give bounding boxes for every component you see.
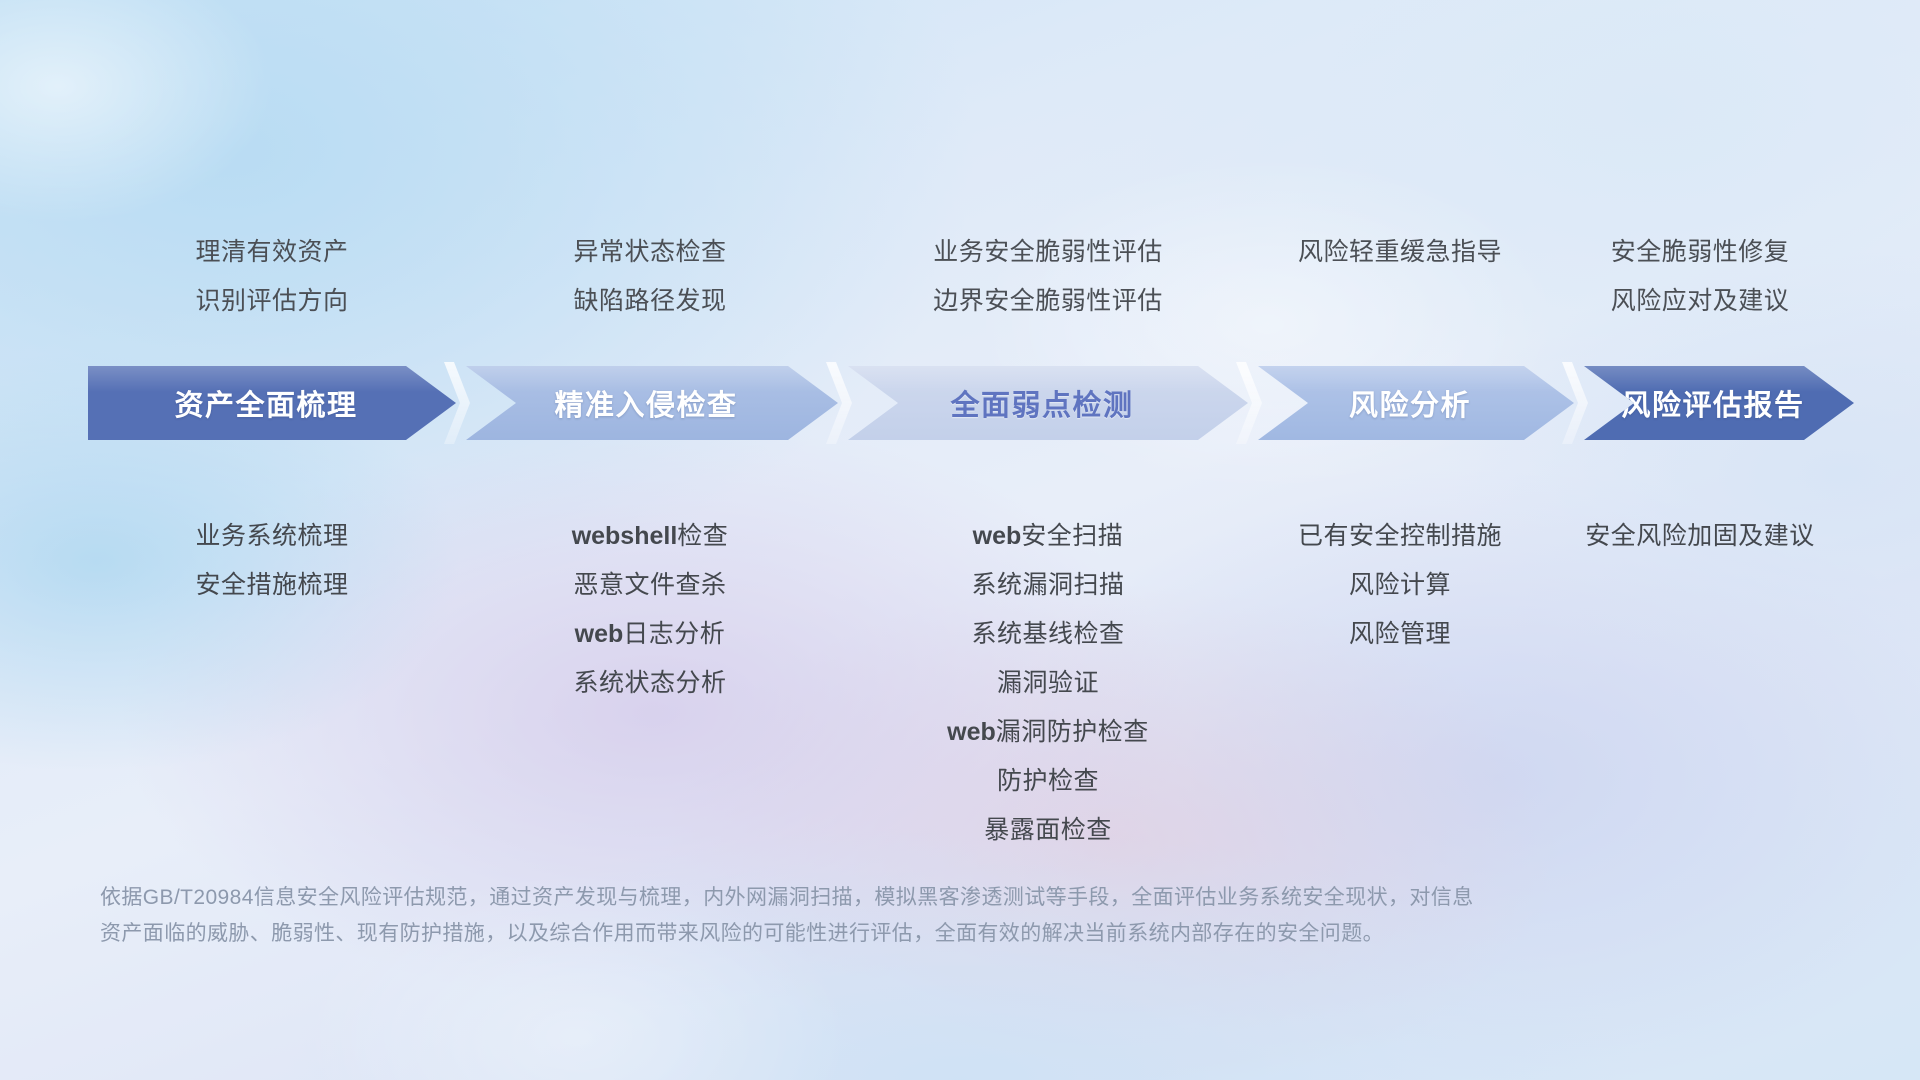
top-label-item: 缺陷路径发现 (573, 277, 726, 326)
top-label-group-asset: 理清有效资产识别评估方向 (82, 228, 462, 326)
bottom-label-group-asset: 业务系统梳理安全措施梳理 (82, 512, 462, 610)
bottom-label-item: 暴露面检查 (984, 806, 1112, 855)
stage-label-risk-analysis: 风险分析 (1349, 382, 1471, 424)
bottom-label-item: 安全风险加固及建议 (1585, 512, 1815, 561)
bottom-label-item: 已有安全控制措施 (1298, 512, 1502, 561)
top-label-item: 业务安全脆弱性评估 (933, 228, 1163, 277)
bottom-label-item: 安全措施梳理 (195, 561, 348, 610)
stage-label-report: 风险评估报告 (1621, 382, 1804, 424)
bottom-label-item: web日志分析 (575, 610, 726, 659)
process-banner: 资产全面梳理 精准入侵检查 全面弱点检测 风险分析 风险评估报告 (88, 366, 1854, 440)
bottom-label-item: 系统基线检查 (971, 610, 1124, 659)
top-label-item: 边界安全脆弱性评估 (933, 277, 1163, 326)
stage-label-weakness: 全面弱点检测 (950, 382, 1133, 424)
stage-label-intrusion: 精准入侵检查 (554, 382, 737, 424)
top-label-group-weakness: 业务安全脆弱性评估边界安全脆弱性评估 (848, 228, 1248, 326)
top-label-item: 风险轻重缓急指导 (1298, 228, 1502, 277)
bottom-label-group-weakness: web安全扫描系统漏洞扫描系统基线检查漏洞验证web漏洞防护检查防护检查暴露面检… (848, 512, 1248, 855)
bottom-label-item: webshell检查 (572, 512, 729, 561)
bottom-label-item: 风险管理 (1349, 610, 1451, 659)
top-label-group-intrusion: 异常状态检查缺陷路径发现 (455, 228, 845, 326)
stage-chevron-report[interactable]: 风险评估报告 (1584, 366, 1854, 440)
footer-line-1: 依据GB/T20984信息安全风险评估规范，通过资产发现与梳理，内外网漏洞扫描，… (100, 880, 1620, 916)
top-label-item: 风险应对及建议 (1611, 277, 1790, 326)
bottom-label-item: 漏洞验证 (997, 659, 1099, 708)
bottom-label-item: web安全扫描 (973, 512, 1124, 561)
stage-chevron-asset[interactable]: 资产全面梳理 (88, 366, 456, 440)
top-label-item: 识别评估方向 (195, 277, 348, 326)
bottom-label-item: 业务系统梳理 (195, 512, 348, 561)
footer-line-2: 资产面临的威胁、脆弱性、现有防护措施，以及综合作用而带来风险的可能性进行评估，全… (100, 916, 1620, 952)
bottom-label-item: 系统状态分析 (573, 659, 726, 708)
bottom-label-item: web漏洞防护检查 (947, 708, 1149, 757)
stage-chevron-weakness[interactable]: 全面弱点检测 (848, 366, 1248, 440)
top-label-item: 安全脆弱性修复 (1611, 228, 1790, 277)
bottom-label-group-intrusion: webshell检查恶意文件查杀web日志分析系统状态分析 (455, 512, 845, 708)
top-label-item: 理清有效资产 (195, 228, 348, 277)
bottom-label-item: 系统漏洞扫描 (971, 561, 1124, 610)
top-label-group-report: 安全脆弱性修复风险应对及建议 (1510, 228, 1890, 326)
bottom-label-item: 防护检查 (997, 757, 1099, 806)
top-label-item: 异常状态检查 (573, 228, 726, 277)
stage-chevron-intrusion[interactable]: 精准入侵检查 (466, 366, 838, 440)
stage-label-asset: 资产全面梳理 (174, 382, 357, 424)
process-diagram: 理清有效资产识别评估方向异常状态检查缺陷路径发现业务安全脆弱性评估边界安全脆弱性… (0, 0, 1920, 1080)
bottom-label-item: 恶意文件查杀 (573, 561, 726, 610)
footer-description: 依据GB/T20984信息安全风险评估规范，通过资产发现与梳理，内外网漏洞扫描，… (100, 880, 1620, 952)
stage-chevron-risk-analysis[interactable]: 风险分析 (1258, 366, 1574, 440)
bottom-label-group-report: 安全风险加固及建议 (1510, 512, 1890, 561)
bottom-label-item: 风险计算 (1349, 561, 1451, 610)
